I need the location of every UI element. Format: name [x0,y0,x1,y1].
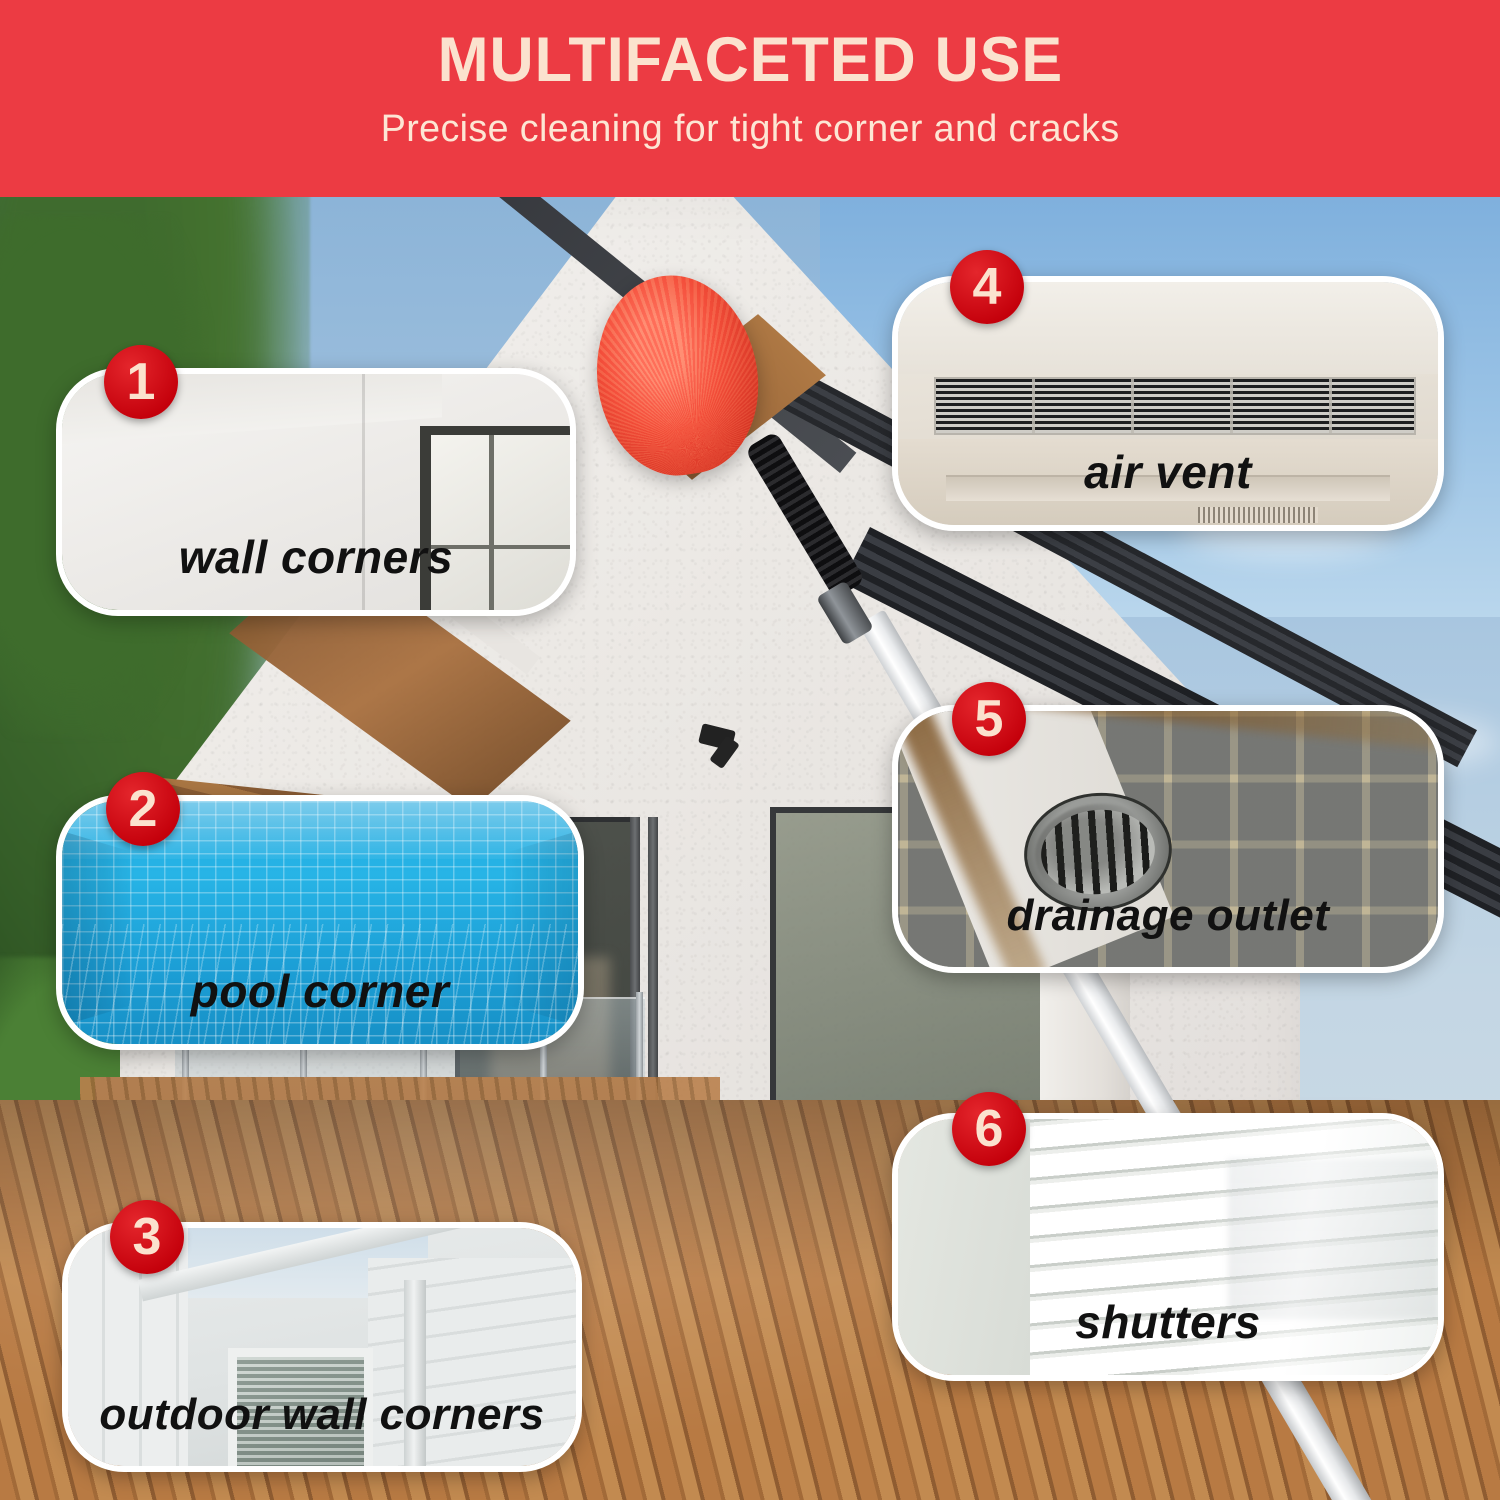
card-label-5: drainage outlet [898,891,1438,941]
card-label-1: wall corners [62,530,570,584]
badge-3: 3 [110,1200,184,1274]
header-banner: MULTIFACETED USE Precise cleaning for ti… [0,0,1500,197]
page-title: MULTIFACETED USE [437,26,1062,94]
card-label-2: pool corner [62,964,578,1018]
badge-4: 4 [950,250,1024,324]
badge-2: 2 [106,772,180,846]
card-label-6: shutters [898,1295,1438,1349]
poster-root: MULTIFACETED USE Precise cleaning for ti… [0,0,1500,1500]
badge-6: 6 [952,1092,1026,1166]
badge-5: 5 [952,682,1026,756]
badge-1: 1 [104,345,178,419]
card-label-4: air vent [898,445,1438,499]
card-label-3: outdoor wall corners [68,1390,576,1440]
page-subtitle: Precise cleaning for tight corner and cr… [381,108,1120,151]
